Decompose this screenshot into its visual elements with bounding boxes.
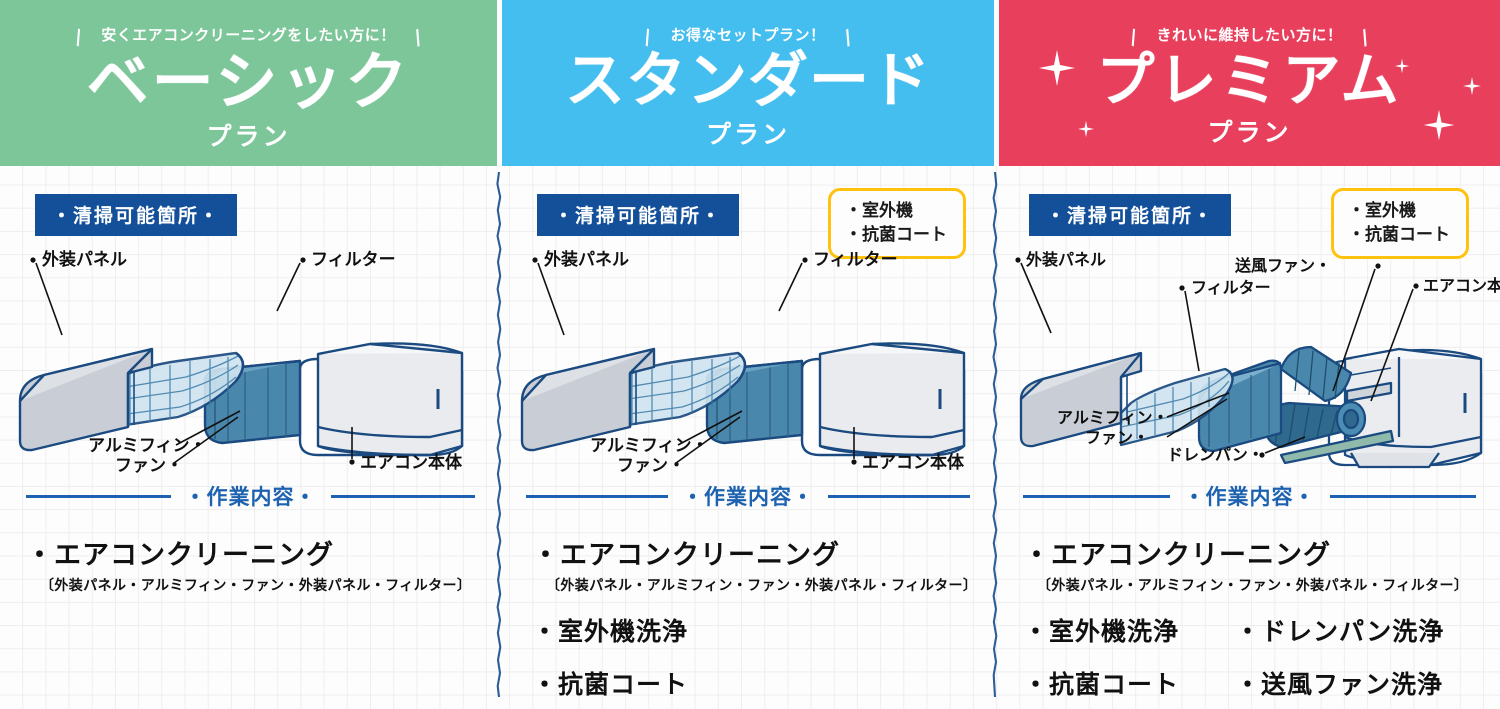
label-filter: フィルター [813,250,898,270]
label-fan: ファン・ [1085,428,1149,447]
plan-headers: \ 安くエアコンクリーニングをしたい方に！ / ベーシック プラン \ お得なセ… [0,0,1500,166]
extra-item: ・室外機 [845,199,947,223]
label-outer-panel: 外装パネル [1025,250,1106,269]
work-item-main: ・エアコンクリーニング [1023,533,1500,572]
ac-diagram-premium: 外装パネル フィルター 送風ファン・ エアコン本体 アルミフィン・ ファン・ ド… [999,241,1500,481]
label-aluminum-fin: アルミフィン・ [88,436,207,456]
plan-kicker-text: きれいに維持したい方に！ [1156,26,1342,44]
plan-column-basic: ・清掃可能箇所・ [0,166,497,709]
work-item: ・室外機洗浄 [532,612,994,648]
cleanable-parts-badge: ・清掃可能箇所・ [1029,194,1231,236]
work-item-main: ・エアコンクリーニング [532,533,994,572]
plan-column-premium: ・清掃可能箇所・ ・室外機 ・抗菌コート [999,166,1500,709]
sparkle-icon-2 [1077,120,1095,138]
work-list: ・エアコンクリーニング 〔外装パネル・アルミフィン・ファン・外装パネル・フィルタ… [999,533,1500,701]
plan-subtitle-standard: プラン [706,115,790,151]
plan-kicker-text: 安くエアコンクリーニングをしたい方に！ [101,26,396,44]
label-drain-pan: ドレンパン・ [1167,445,1264,464]
ac-diagram-basic: 外装パネル フィルター アルミフィン・ ファン・ エアコン本体 [0,241,497,481]
label-ac-body: エアコン本体 [360,452,463,473]
plan-title-premium: プレミアム [1097,51,1403,109]
rule-right [828,495,970,498]
rule-right [1330,495,1477,498]
slash-left-icon: \ [71,24,87,49]
label-aluminum-fin: アルミフィン・ [590,436,709,456]
work-section-basic: ・作業内容・ ・エアコンクリーニング 〔外装パネル・アルミフィン・ファン・外装パ… [0,481,497,595]
work-title: ・作業内容・ [668,481,828,511]
sparkle-icon-1 [1037,48,1077,88]
plan-subtitle-basic: プラン [206,117,290,153]
plan-header-basic: \ 安くエアコンクリーニングをしたい方に！ / ベーシック プラン [0,0,497,166]
work-title: ・作業内容・ [1170,481,1330,511]
plan-kicker-text: お得なセットプラン！ [670,26,825,44]
work-item-main: ・エアコンクリーニング [26,533,497,572]
label-outer-panel: 外装パネル [544,249,629,270]
work-item-note: 〔外装パネル・アルミフィン・ファン・外装パネル・フィルター〕 [40,575,497,595]
rule-left [1023,495,1170,498]
label-ac-body: エアコン本体 [862,452,965,473]
plan-subtitle-premium: プラン [1207,113,1291,149]
work-section-standard: ・作業内容・ ・エアコンクリーニング 〔外装パネル・アルミフィン・ファン・外装パ… [502,481,994,701]
work-item: ・抗菌コート [532,665,994,701]
plan-header-premium: \ きれいに維持したい方に！ / プレミアム プラン [999,0,1500,166]
plan-title-standard: スタンダード [565,51,931,111]
work-item-note: 〔外装パネル・アルミフィン・ファン・外装パネル・フィルター〕 [546,575,994,595]
work-heading: ・作業内容・ [1023,481,1476,511]
work-items-right: ・ドレンパン洗浄 ・送風ファン洗浄 [1235,595,1495,701]
plan-title-basic: ベーシック [87,51,411,113]
work-heading: ・作業内容・ [526,481,970,511]
label-fan: ファン・ [115,456,183,476]
label-ac-body: エアコン本体 [1423,276,1500,295]
plan-kicker-basic: \ 安くエアコンクリーニングをしたい方に！ / [101,24,396,45]
label-outer-panel: 外装パネル [42,249,127,270]
work-items-grid: ・室外機洗浄 ・抗菌コート ・ドレンパン洗浄 ・送風ファン洗浄 [1023,595,1500,701]
work-item: ・送風ファン洗浄 [1235,665,1495,701]
label-fan: ファン・ [617,456,685,476]
rule-right [331,495,476,498]
infographic-root: \ 安くエアコンクリーニングをしたい方に！ / ベーシック プラン \ お得なセ… [0,0,1500,709]
rule-left [526,495,668,498]
cleanable-parts-badge: ・清掃可能箇所・ [537,194,739,236]
work-item: ・室外機洗浄 [1023,612,1235,648]
extra-item: ・室外機 [1348,199,1450,223]
ac-diagram-standard: 外装パネル フィルター アルミフィン・ ファン・ エアコン本体 [502,241,994,481]
work-heading: ・作業内容・ [26,481,475,511]
work-item: ・ドレンパン洗浄 [1235,612,1495,648]
work-item: ・抗菌コート [1023,665,1235,701]
work-item-note: 〔外装パネル・アルミフィン・ファン・外装パネル・フィルター〕 [1037,575,1500,595]
plan-kicker-premium: \ きれいに維持したい方に！ / [1156,24,1342,45]
slash-right-icon: / [410,24,426,49]
cleanable-parts-badge: ・清掃可能箇所・ [35,194,237,236]
plan-header-standard: \ お得なセットプラン！ / スタンダード プラン [502,0,994,166]
label-filter: フィルター [1191,278,1271,297]
rule-left [26,495,171,498]
work-items-left: ・室外機洗浄 ・抗菌コート [1023,595,1235,701]
work-list: ・エアコンクリーニング 〔外装パネル・アルミフィン・ファン・外装パネル・フィルタ… [502,533,994,701]
work-title: ・作業内容・ [171,481,331,511]
label-filter: フィルター [311,250,396,270]
plan-column-standard: ・清掃可能箇所・ ・室外機 ・抗菌コート [502,166,994,709]
plan-columns: ・清掃可能箇所・ [0,166,1500,709]
sparkle-icon-3 [1422,108,1456,142]
label-blower-fan: 送風ファン・ [1234,256,1331,275]
label-aluminum-fin: アルミフィン・ [1057,408,1169,427]
column-divider-2 [990,172,1000,697]
work-list: ・エアコンクリーニング 〔外装パネル・アルミフィン・ファン・外装パネル・フィルタ… [0,533,497,595]
work-section-premium: ・作業内容・ ・エアコンクリーニング 〔外装パネル・アルミフィン・ファン・外装パ… [999,481,1500,701]
plan-kicker-standard: \ お得なセットプラン！ / [670,24,825,45]
column-divider-1 [494,172,504,697]
sparkle-icon-5 [1462,76,1482,96]
